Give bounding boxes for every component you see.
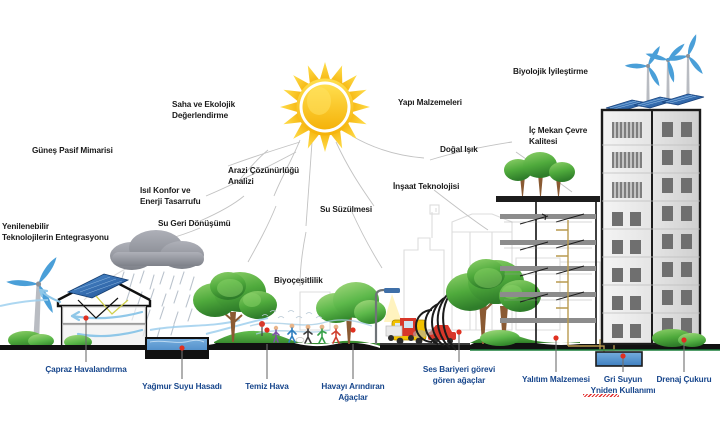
residential-tower — [602, 34, 707, 347]
rooftop-solar-panels — [606, 94, 704, 111]
infographic-canvas: Güneş Pasif MimarisiSaha ve Ekolojik Değ… — [0, 0, 720, 427]
greywater-tank — [596, 352, 642, 366]
label-insaat-teknolojisi: İnşaat Teknolojisi — [393, 182, 459, 193]
sun-icon — [280, 62, 370, 152]
label-drenaj-cukuru: Drenaj Çukuru — [624, 375, 720, 386]
label-havayi-arindiran-agaclar: Havayı Arındıran Ağaçlar — [293, 382, 413, 403]
solar-panel-roof — [68, 274, 128, 298]
label-dogal-isik: Doğal Işık — [440, 145, 478, 156]
roof-wind-turbines — [625, 34, 707, 102]
label-ic-mekan-cevre-kalitesi: İç Mekan Çevre Kalitesi — [529, 126, 587, 147]
label-su-geri-donusumu: Su Geri Dönüşümü — [158, 219, 231, 230]
label-biyolojik-iyilestirme: Biyolojik İyileştirme — [513, 67, 588, 78]
label-su-suzulmesi: Su Süzülmesi — [320, 205, 372, 216]
label-yapi-malzemeleri: Yapı Malzemeleri — [398, 98, 462, 109]
house-cross-section — [40, 274, 150, 349]
label-biyocesitlilik: Biyoçeşitlilik — [274, 276, 323, 287]
label-saha-ve-ekolojik-degerlendirme: Saha ve Ekolojik Değerlendirme — [172, 100, 235, 121]
label-capraz-havalandirma: Çapraz Havalandırma — [26, 365, 146, 376]
label-isil-konfor-ve-enerji-tasarrufu: Isıl Konfor ve Enerji Tasarrufu — [140, 186, 201, 207]
label-yenilenebilir-teknolojilerin-entegrasyonu: Yenilenebilir Teknolojilerin Entegrasyon… — [2, 222, 109, 243]
office-cross-section — [496, 152, 614, 356]
label-arazi-cozunurlugu-analizi: Arazi Çözünürlüğü Analizi — [228, 166, 299, 187]
green-roof-trees — [504, 152, 575, 196]
label-gunes-pasif-mimarisi: Güneş Pasif Mimarisi — [32, 146, 113, 157]
spellcheck-underline — [583, 394, 619, 397]
wind-turbine-left — [6, 255, 61, 349]
